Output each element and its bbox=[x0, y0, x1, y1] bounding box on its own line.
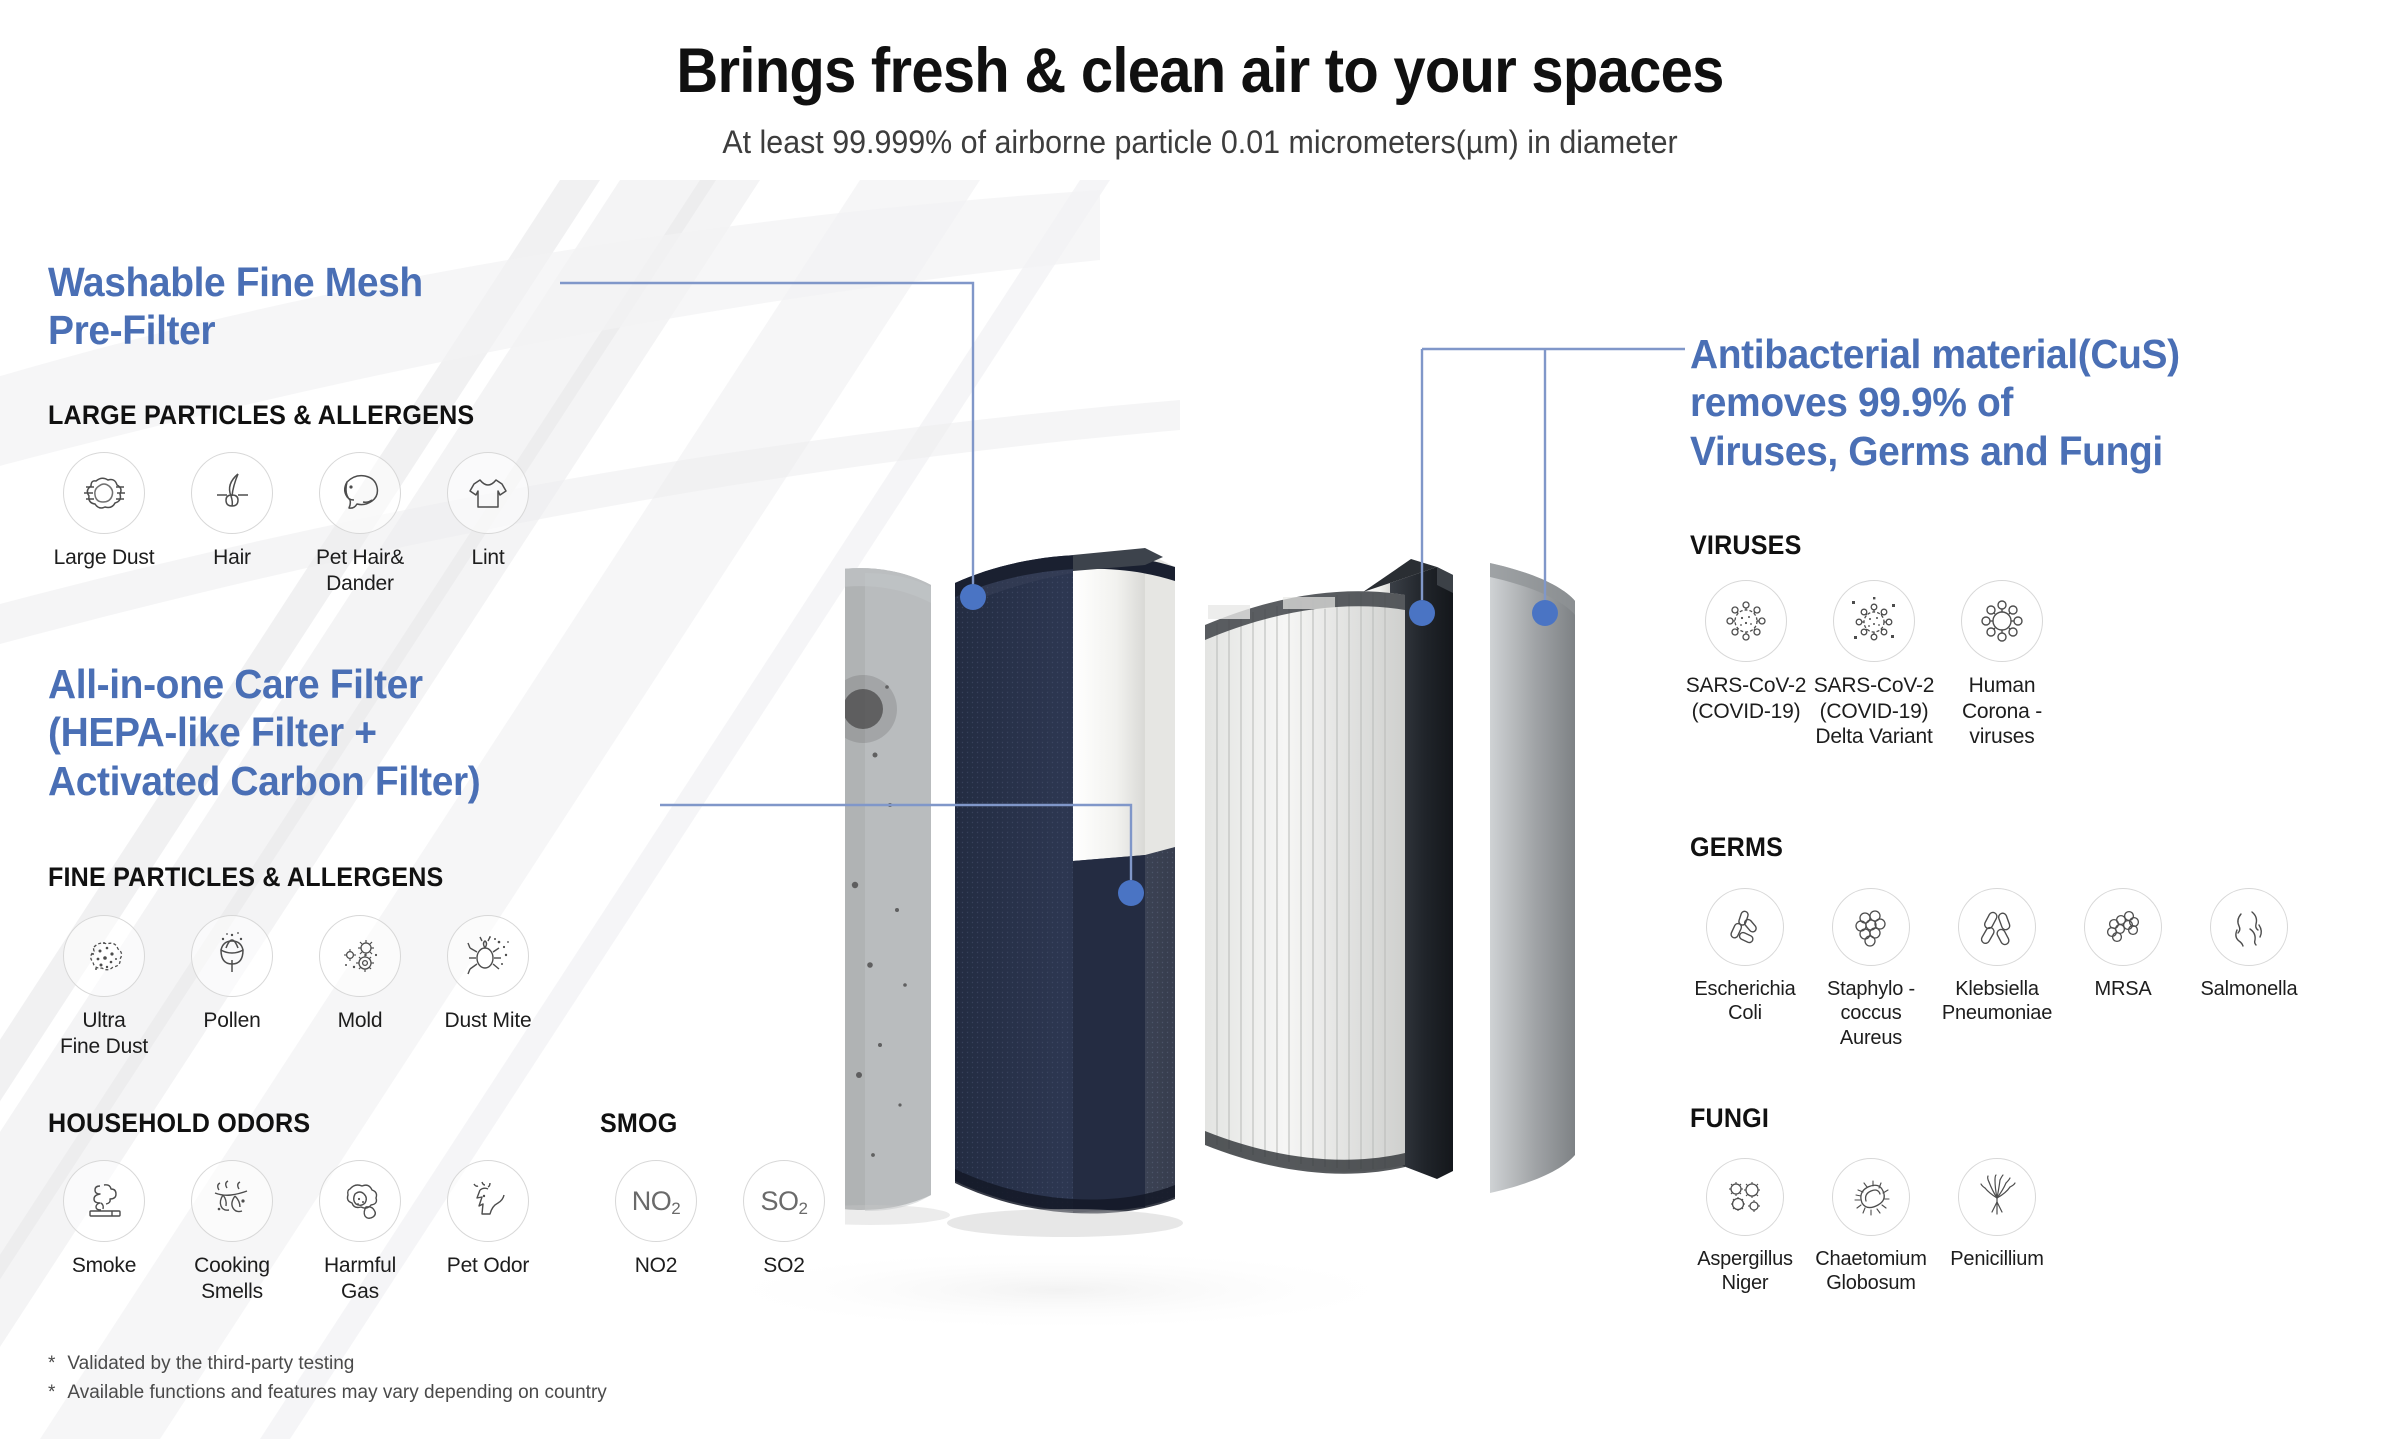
salmonella-icon bbox=[2210, 888, 2288, 966]
icon-label: Salmonella bbox=[2201, 977, 2298, 1001]
icon-item-lint[interactable]: Lint bbox=[424, 452, 552, 596]
icon-label: Klebsiella Pneumoniae bbox=[1942, 977, 2052, 1026]
icon-item-aspergillus-niger[interactable]: Aspergillus Niger bbox=[1682, 1158, 1808, 1296]
icon-item-dust-mite[interactable]: Dust Mite bbox=[424, 915, 552, 1059]
ultra-fine-dust-icon bbox=[63, 915, 145, 997]
chaetomium-icon bbox=[1832, 1158, 1910, 1236]
callout-title-antibacterial: Antibacterial material(CuS) removes 99.9… bbox=[1690, 330, 2355, 475]
footnote-marker: * bbox=[48, 1378, 55, 1407]
virus-delta-icon bbox=[1833, 580, 1915, 662]
hepa-pleated-panel bbox=[1205, 591, 1405, 1173]
icon-row-viruses: SARS-CoV-2 (COVID-19) bbox=[1682, 580, 2066, 750]
icon-label: Hair bbox=[213, 545, 251, 571]
icon-label: SO2 bbox=[763, 1253, 804, 1279]
icon-row-fine-particles: Ultra Fine Dust Pollen bbox=[40, 915, 552, 1059]
icon-label: Pollen bbox=[203, 1008, 260, 1034]
virus-icon bbox=[1705, 580, 1787, 662]
footnote-item: * Validated by the third-party testing bbox=[48, 1349, 607, 1378]
icon-label: Chaetomium Globosum bbox=[1815, 1247, 1926, 1296]
smoke-icon bbox=[63, 1160, 145, 1242]
section-label-germs: GERMS bbox=[1690, 832, 1783, 863]
staphylococcus-icon bbox=[1832, 888, 1910, 966]
mrsa-icon bbox=[2084, 888, 2162, 966]
icon-item-cooking-smells[interactable]: Cooking Smells bbox=[168, 1160, 296, 1304]
icon-label: Pet Hair& Dander bbox=[316, 545, 404, 596]
section-label-household-odors: HOUSEHOLD ODORS bbox=[48, 1108, 310, 1139]
dust-mite-icon bbox=[447, 915, 529, 997]
so2-glyph-sub: 2 bbox=[799, 1199, 808, 1218]
icon-label: Mold bbox=[338, 1008, 383, 1034]
icon-item-ultra-fine-dust[interactable]: Ultra Fine Dust bbox=[40, 915, 168, 1059]
icon-item-escherichia-coli[interactable]: Escherichia Coli bbox=[1682, 888, 1808, 1050]
icon-item-sars-cov-2-delta[interactable]: SARS-CoV-2 (COVID-19) Delta Variant bbox=[1810, 580, 1938, 750]
icon-label: Smoke bbox=[72, 1253, 136, 1279]
icon-label: Human Corona - viruses bbox=[1962, 673, 2042, 750]
icon-label: SARS-CoV-2 (COVID-19) bbox=[1686, 673, 1807, 724]
so2-icon: SO2 bbox=[743, 1160, 825, 1242]
icon-item-sars-cov-2[interactable]: SARS-CoV-2 (COVID-19) bbox=[1682, 580, 1810, 750]
icon-item-mold[interactable]: Mold bbox=[296, 915, 424, 1059]
section-label-fungi: FUNGI bbox=[1690, 1103, 1769, 1134]
icon-label: Pet Odor bbox=[447, 1253, 529, 1279]
icon-item-human-coronavirus[interactable]: Human Corona - viruses bbox=[1938, 580, 2066, 750]
footnote-marker: * bbox=[48, 1349, 55, 1378]
pet-odor-icon bbox=[447, 1160, 529, 1242]
section-label-large-particles: LARGE PARTICLES & ALLERGENS bbox=[48, 400, 474, 431]
callout-title-care-filter: All-in-one Care Filter (HEPA-like Filter… bbox=[48, 660, 656, 805]
callout-title-pre-filter: Washable Fine Mesh Pre-Filter bbox=[48, 258, 580, 355]
icon-label: Dust Mite bbox=[445, 1008, 532, 1034]
klebsiella-icon bbox=[1958, 888, 2036, 966]
infographic-page: Brings fresh & clean air to your spaces … bbox=[0, 0, 2400, 1439]
coronavirus-icon bbox=[1961, 580, 2043, 662]
so2-glyph: SO bbox=[761, 1186, 799, 1216]
icon-row-household-odors: Smoke Cooking Smells bbox=[40, 1160, 552, 1304]
icon-item-no2[interactable]: NO2 NO2 bbox=[592, 1160, 720, 1279]
no2-glyph-sub: 2 bbox=[671, 1199, 680, 1218]
footnote-item: * Available functions and features may v… bbox=[48, 1378, 607, 1407]
icon-item-salmonella[interactable]: Salmonella bbox=[2186, 888, 2312, 1050]
large-dust-icon bbox=[63, 452, 145, 534]
icon-item-staphylococcus-aureus[interactable]: Staphylo - coccus Aureus bbox=[1808, 888, 1934, 1050]
icon-label: SARS-CoV-2 (COVID-19) Delta Variant bbox=[1814, 673, 1935, 750]
hair-icon bbox=[191, 452, 273, 534]
page-title: Brings fresh & clean air to your spaces bbox=[96, 38, 2304, 104]
icon-item-chaetomium-globosum[interactable]: Chaetomium Globosum bbox=[1808, 1158, 1934, 1296]
footnote-text: Validated by the third-party testing bbox=[67, 1349, 354, 1378]
aspergillus-icon bbox=[1706, 1158, 1784, 1236]
icon-item-penicillium[interactable]: Penicillium bbox=[1934, 1158, 2060, 1296]
header: Brings fresh & clean air to your spaces … bbox=[0, 38, 2400, 161]
penicillium-icon bbox=[1958, 1158, 2036, 1236]
icon-label: NO2 bbox=[635, 1253, 678, 1279]
icon-item-pet-odor[interactable]: Pet Odor bbox=[424, 1160, 552, 1304]
section-label-viruses: VIRUSES bbox=[1690, 530, 1802, 561]
pollen-icon bbox=[191, 915, 273, 997]
icon-item-klebsiella-pneumoniae[interactable]: Klebsiella Pneumoniae bbox=[1934, 888, 2060, 1050]
outer-cover-panel bbox=[1490, 563, 1575, 1193]
icon-label: Large Dust bbox=[54, 545, 155, 571]
icon-label: Lint bbox=[471, 545, 504, 571]
icon-item-pet-dander[interactable]: Pet Hair& Dander bbox=[296, 452, 424, 596]
pet-dander-icon bbox=[319, 452, 401, 534]
icon-label: Escherichia Coli bbox=[1694, 977, 1795, 1026]
icon-item-harmful-gas[interactable]: Harmful Gas bbox=[296, 1160, 424, 1304]
lint-icon bbox=[447, 452, 529, 534]
icon-item-smoke[interactable]: Smoke bbox=[40, 1160, 168, 1304]
no2-icon: NO2 bbox=[615, 1160, 697, 1242]
footnote-text: Available functions and features may var… bbox=[67, 1378, 606, 1407]
icon-item-large-dust[interactable]: Large Dust bbox=[40, 452, 168, 596]
activated-carbon-panel bbox=[947, 548, 1183, 1237]
pre-filter-mesh-panel bbox=[845, 568, 950, 1225]
icon-label: MRSA bbox=[2095, 977, 2152, 1001]
filter-exploded-view bbox=[845, 455, 1665, 1265]
icon-item-hair[interactable]: Hair bbox=[168, 452, 296, 596]
mold-icon bbox=[319, 915, 401, 997]
icon-label: Penicillium bbox=[1950, 1247, 2043, 1271]
icon-item-mrsa[interactable]: MRSA bbox=[2060, 888, 2186, 1050]
no2-glyph: NO bbox=[632, 1186, 672, 1216]
icon-label: Ultra Fine Dust bbox=[60, 1008, 148, 1059]
page-subtitle: At least 99.999% of airborne particle 0.… bbox=[60, 124, 2340, 161]
harmful-gas-icon bbox=[319, 1160, 401, 1242]
icon-label: Harmful Gas bbox=[324, 1253, 396, 1304]
section-label-smog: SMOG bbox=[600, 1108, 677, 1139]
section-label-fine-particles: FINE PARTICLES & ALLERGENS bbox=[48, 862, 443, 893]
footnotes: * Validated by the third-party testing *… bbox=[48, 1349, 607, 1408]
e-coli-icon bbox=[1706, 888, 1784, 966]
icon-row-germs: Escherichia Coli Staphylo - coccus Aureu… bbox=[1682, 888, 2312, 1050]
cooking-smells-icon bbox=[191, 1160, 273, 1242]
icon-label: Staphylo - coccus Aureus bbox=[1827, 977, 1915, 1050]
icon-item-so2[interactable]: SO2 SO2 bbox=[720, 1160, 848, 1279]
icon-label: Cooking Smells bbox=[194, 1253, 270, 1304]
icon-row-smog: NO2 NO2 SO2 SO2 bbox=[592, 1160, 848, 1279]
icon-item-pollen[interactable]: Pollen bbox=[168, 915, 296, 1059]
icon-row-fungi: Aspergillus Niger bbox=[1682, 1158, 2060, 1296]
icon-row-large-particles: Large Dust Hair bbox=[40, 452, 552, 596]
icon-label: Aspergillus Niger bbox=[1697, 1247, 1793, 1296]
